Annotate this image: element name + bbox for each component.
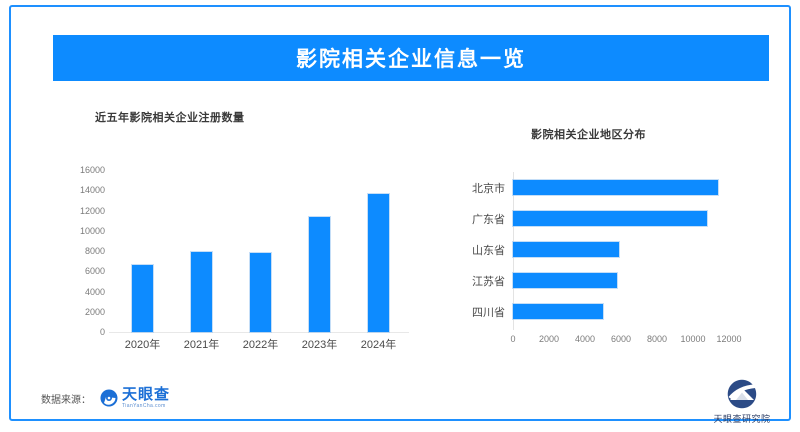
y-axis-tick: 6000 <box>85 266 105 276</box>
title-banner: 影院相关企业信息一览 <box>53 35 769 81</box>
y-axis-tick: 0 <box>100 327 105 337</box>
column-bar <box>191 252 212 332</box>
x-axis-tick: 8000 <box>647 334 667 344</box>
tianyancha-logo: 天眼查 TianYanCha.com <box>99 387 170 409</box>
region-bar-track <box>513 234 755 265</box>
x-axis-tick: 0 <box>510 334 515 344</box>
region-bar-row: 广东省 <box>455 203 755 234</box>
region-label: 北京市 <box>455 180 513 196</box>
institute-footer: 天眼查研究院 <box>699 379 785 425</box>
region-bar-row: 山东省 <box>455 234 755 265</box>
region-label: 江苏省 <box>455 273 513 289</box>
column-bar <box>309 217 330 332</box>
column-chart: 1600014000120001000080006000400020000 20… <box>53 102 423 357</box>
column-chart-baseline <box>109 332 409 333</box>
mountain-circle-icon <box>723 379 761 409</box>
x-axis-label: 2024年 <box>361 336 396 352</box>
eye-icon <box>99 388 119 408</box>
region-bar <box>513 304 603 319</box>
y-axis-tick: 14000 <box>80 185 105 195</box>
y-axis-tick: 4000 <box>85 287 105 297</box>
region-bar-row: 江苏省 <box>455 265 755 296</box>
x-axis-label: 2020年 <box>125 336 160 352</box>
region-chart: 北京市广东省山东省江苏省四川省 020004000600080001000012… <box>443 102 773 362</box>
brand-name: 天眼查 <box>122 387 170 402</box>
y-axis-tick: 2000 <box>85 307 105 317</box>
content-card: 影院相关企业信息一览 近五年影院相关企业注册数量 160001400012000… <box>9 5 791 421</box>
column-bar <box>368 194 389 332</box>
x-axis-label: 2023年 <box>302 336 337 352</box>
brand-domain: TianYanCha.com <box>122 404 170 409</box>
data-source-footer: 数据来源： 天眼查 TianYanCha.com <box>41 387 170 409</box>
y-axis-tick: 12000 <box>80 206 105 216</box>
y-axis-tick: 8000 <box>85 246 105 256</box>
region-bar-track <box>513 172 755 203</box>
region-label: 山东省 <box>455 242 513 258</box>
region-bar <box>513 180 718 195</box>
region-bar-track <box>513 296 755 327</box>
region-chart-rows: 北京市广东省山东省江苏省四川省 <box>455 172 755 327</box>
x-axis-tick: 10000 <box>680 334 705 344</box>
region-bar-track <box>513 265 755 296</box>
region-label: 四川省 <box>455 304 513 320</box>
y-axis-tick: 10000 <box>80 226 105 236</box>
y-axis-tick: 16000 <box>80 165 105 175</box>
region-bar <box>513 273 617 288</box>
tianyancha-wordmark: 天眼查 TianYanCha.com <box>122 387 170 409</box>
data-source-label: 数据来源： <box>41 391 91 406</box>
column-chart-bars <box>113 170 408 332</box>
x-axis-tick: 2000 <box>539 334 559 344</box>
region-bar <box>513 242 619 257</box>
x-axis-tick: 4000 <box>575 334 595 344</box>
region-bar-row: 北京市 <box>455 172 755 203</box>
x-axis-label: 2021年 <box>184 336 219 352</box>
column-bar <box>132 265 153 332</box>
x-axis-label: 2022年 <box>243 336 278 352</box>
region-bar <box>513 211 707 226</box>
page-title: 影院相关企业信息一览 <box>296 43 526 73</box>
region-bar-track <box>513 203 755 234</box>
infographic-page: 影院相关企业信息一览 近五年影院相关企业注册数量 160001400012000… <box>0 0 800 432</box>
institute-name: 天眼查研究院 <box>713 412 770 425</box>
region-bar-row: 四川省 <box>455 296 755 327</box>
column-chart-y-axis: 1600014000120001000080006000400020000 <box>53 170 109 332</box>
x-axis-tick: 12000 <box>716 334 741 344</box>
column-bar <box>250 253 271 332</box>
region-label: 广东省 <box>455 211 513 227</box>
column-chart-x-labels: 2020年2021年2022年2023年2024年 <box>113 336 408 352</box>
region-chart-x-labels: 020004000600080001000012000 <box>513 334 729 348</box>
x-axis-tick: 6000 <box>611 334 631 344</box>
